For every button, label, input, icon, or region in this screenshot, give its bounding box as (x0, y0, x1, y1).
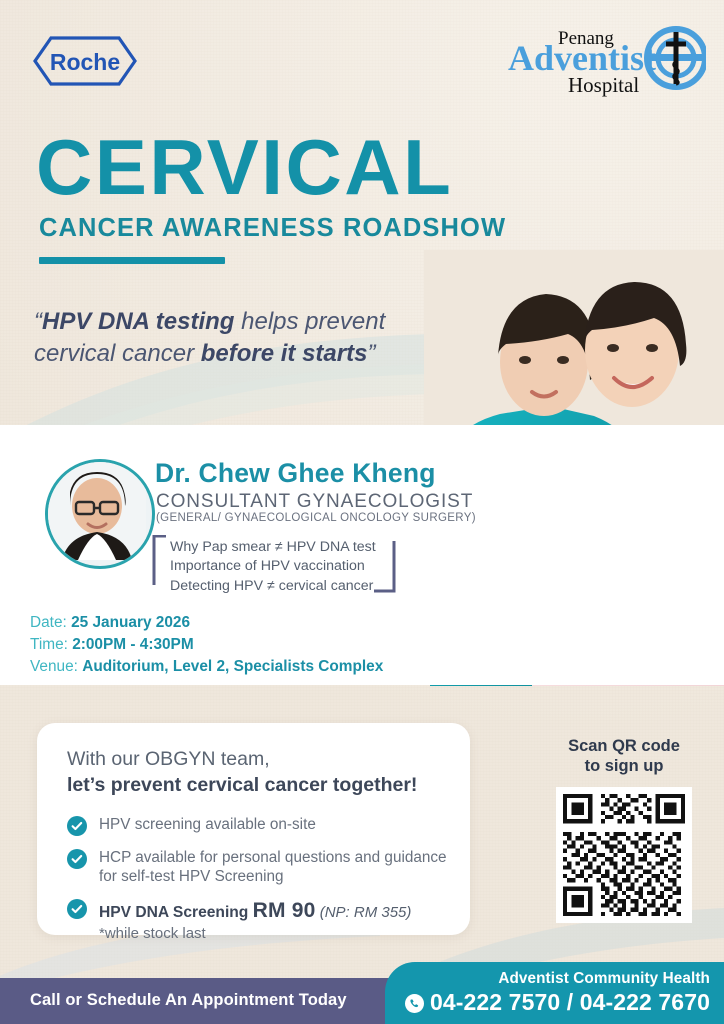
event-venue-value: Auditorium, Level 2, Specialists Complex (82, 658, 383, 675)
title-underline (39, 257, 225, 264)
quote-highlight-1: HPV DNA testing (42, 308, 234, 335)
check-circle-icon (67, 816, 87, 836)
hospital-logo: Penang Adventist Hospital (506, 22, 706, 100)
quote-highlight-2: before it starts (201, 340, 368, 367)
event-time-label: Time: (30, 636, 68, 653)
hero-quote: “HPV DNA testing helps prevent cervical … (34, 306, 454, 369)
quote-open-mark: “ (34, 308, 42, 335)
stock-note: *while stock last (99, 925, 411, 944)
topic-item: Why Pap smear ≠ HPV DNA test (170, 538, 376, 557)
svg-text:Roche: Roche (50, 49, 120, 75)
qr-code-icon[interactable] (563, 794, 685, 916)
poster-root: Roche Penang Adventist Hospital CERVICAL (0, 0, 724, 1024)
qr-section: Scan QR code to sign up (548, 736, 700, 923)
event-time-value: 2:00PM - 4:30PM (72, 636, 193, 653)
event-venue-label: Venue: (30, 658, 78, 675)
card-lead-line1: With our OBGYN team, (67, 747, 417, 773)
qr-title-line1: Scan QR code (548, 736, 700, 756)
normal-price: (NP: RM 355) (316, 904, 412, 921)
roche-logo: Roche (33, 36, 137, 86)
doctor-speciality: (GENERAL/ GYNAECOLOGICAL ONCOLOGY SURGER… (156, 512, 476, 524)
svg-text:Hospital: Hospital (568, 73, 639, 97)
topic-item: Detecting HPV ≠ cervical cancer (170, 577, 376, 596)
qr-code[interactable] (556, 787, 692, 923)
title-block: CERVICAL CANCER AWARENESS ROADSHOW (36, 132, 556, 264)
footer-cta-bar: Call or Schedule An Appointment Today (0, 978, 430, 1024)
page-subtitle: CANCER AWARENESS ROADSHOW (39, 214, 556, 243)
benefit-text: HPV screening available on-site (99, 815, 316, 834)
card-lead-line2: let’s prevent cervical cancer together! (67, 774, 417, 796)
footer-contact-bar: Adventist Community Health 04-222 7570 /… (385, 962, 724, 1024)
footer-cta-text: Call or Schedule An Appointment Today (30, 991, 347, 1010)
price-text: HPV DNA Screening RM 90 (NP: RM 355)*whi… (99, 898, 411, 944)
list-item-price: HPV DNA Screening RM 90 (NP: RM 355)*whi… (67, 898, 447, 944)
list-item: HPV screening available on-site (67, 815, 447, 836)
qr-title-line2: to sign up (548, 756, 700, 776)
footer-org-name: Adventist Community Health (385, 970, 710, 988)
doctor-role: CONSULTANT GYNAECOLOGIST (156, 491, 473, 513)
quote-close-mark: ” (367, 340, 375, 367)
page-title: CERVICAL (36, 132, 556, 204)
svg-text:Adventist: Adventist (508, 38, 656, 78)
card-lead: With our OBGYN team, let’s prevent cervi… (67, 747, 417, 799)
event-venue-row: Venue: Auditorium, Level 2, Specialists … (30, 656, 383, 678)
event-date-row: Date: 25 January 2026 (30, 612, 383, 634)
doctor-avatar (45, 459, 155, 569)
list-item: HCP available for personal questions and… (67, 848, 447, 886)
check-circle-icon (67, 849, 87, 869)
doctor-topics: Why Pap smear ≠ HPV DNA test Importance … (170, 538, 376, 596)
adventist-wordmark-icon: Penang Adventist Hospital (506, 22, 706, 100)
event-date-label: Date: (30, 614, 67, 631)
price-amount: RM 90 (253, 899, 316, 922)
offer-card: With our OBGYN team, let’s prevent cervi… (37, 723, 470, 935)
footer-phone-numbers[interactable]: 04-222 7570 / 04-222 7670 (430, 989, 710, 1015)
price-label: HPV DNA Screening (99, 904, 253, 921)
benefit-list: HPV screening available on-site HCP avai… (67, 815, 447, 956)
benefit-text: HCP available for personal questions and… (99, 848, 447, 886)
doctor-name: Dr. Chew Ghee Kheng (155, 458, 436, 489)
qr-title: Scan QR code to sign up (548, 736, 700, 777)
check-circle-icon (67, 899, 87, 919)
footer-phone-row[interactable]: 04-222 7570 / 04-222 7670 (385, 989, 710, 1019)
topic-item: Importance of HPV vaccination (170, 557, 376, 576)
poster-header: Roche Penang Adventist Hospital (0, 0, 724, 110)
roche-hexagon-icon: Roche (33, 36, 137, 86)
event-time-row: Time: 2:00PM - 4:30PM (30, 634, 383, 656)
event-date-value: 25 January 2026 (71, 614, 190, 631)
event-details: Date: 25 January 2026 Time: 2:00PM - 4:3… (30, 612, 383, 678)
phone-icon (405, 992, 424, 1019)
